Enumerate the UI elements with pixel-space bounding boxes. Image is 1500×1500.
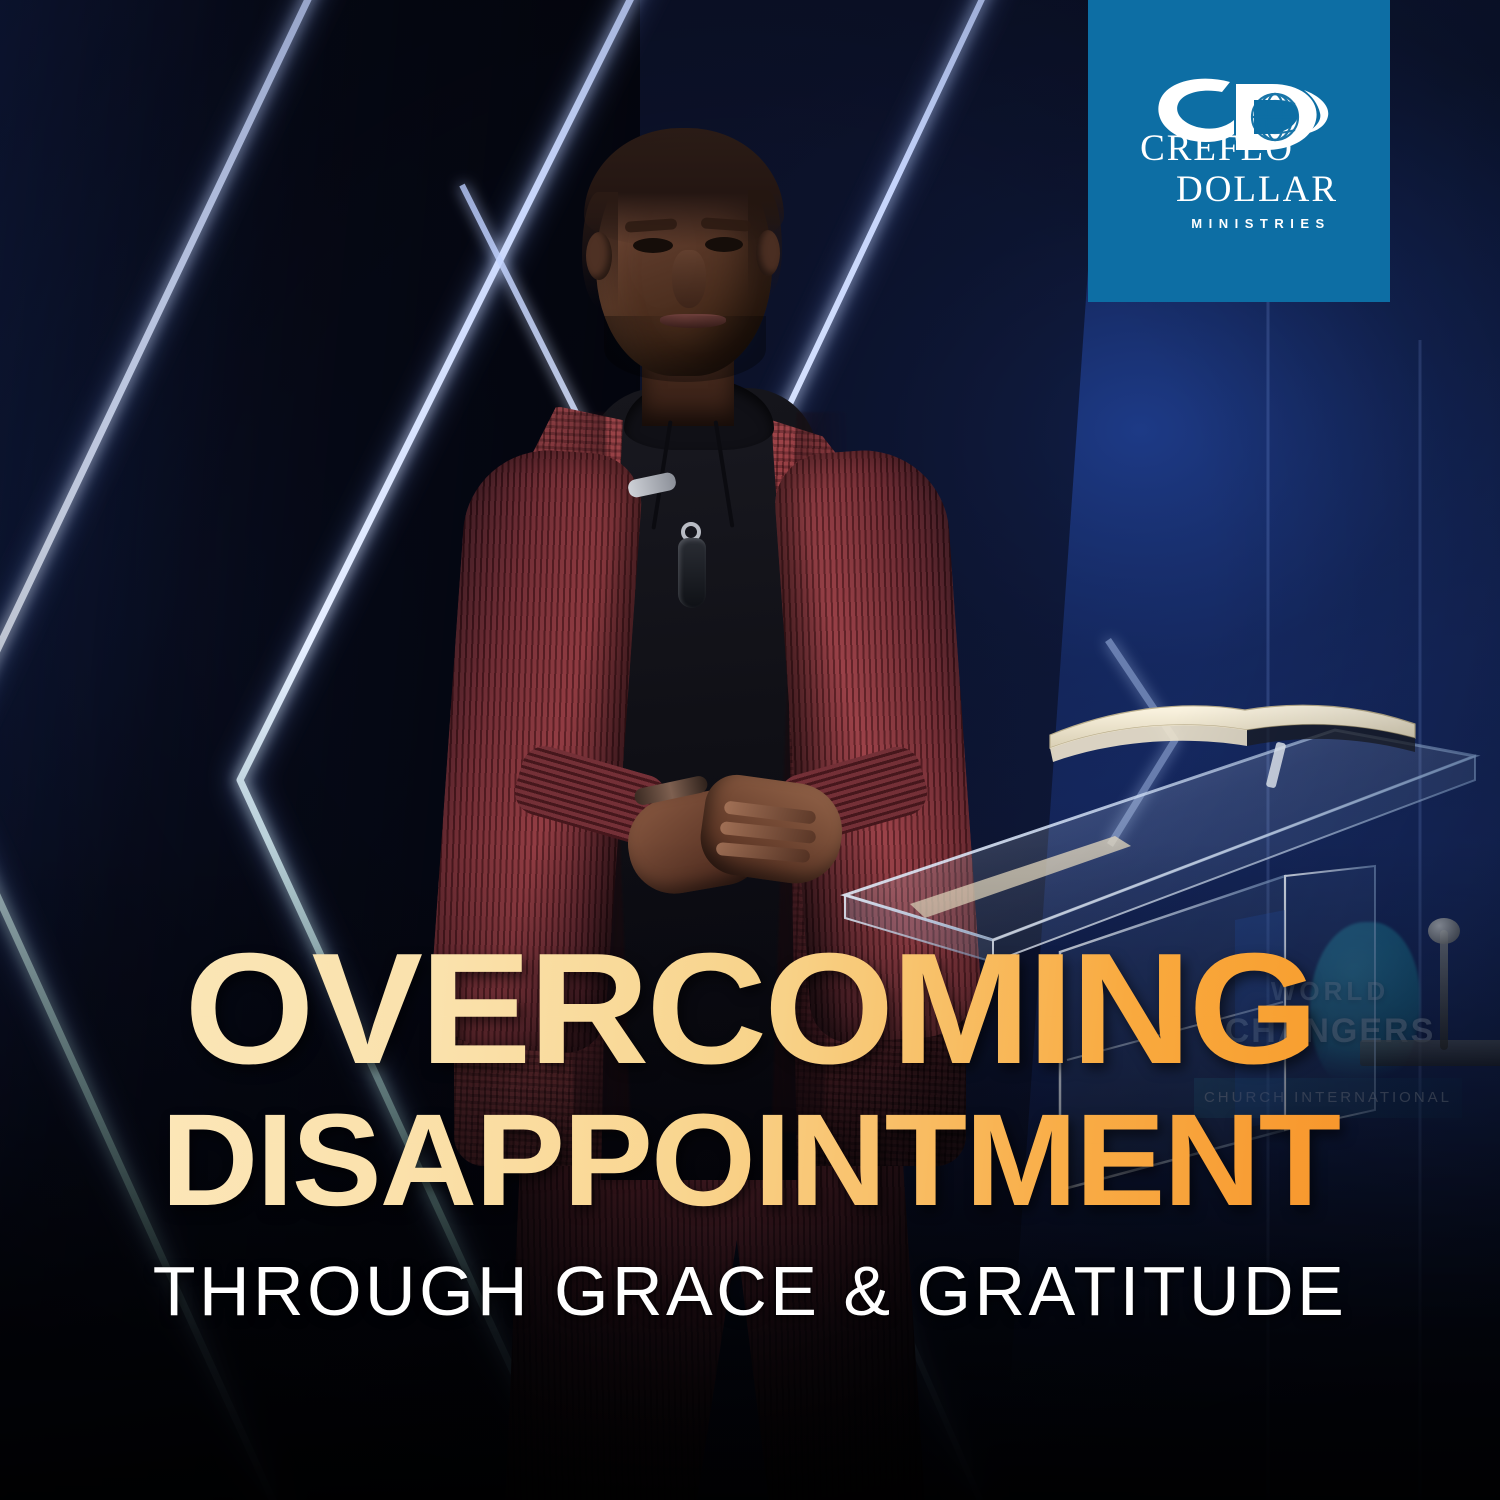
title-subtitle: THROUGH GRACE & GRATITUDE: [0, 1251, 1500, 1331]
sermon-title-block: OVERCOMING DISAPPOINTMENT THROUGH GRACE …: [0, 930, 1500, 1330]
logo-text-ministries: MINISTRIES: [1114, 216, 1364, 231]
title-line-disappointment: DISAPPOINTMENT: [0, 1094, 1500, 1225]
cd-globe-monogram-icon: [1144, 72, 1334, 164]
pendant-charm: [678, 538, 706, 608]
ear-right: [756, 230, 780, 276]
logo-text-dollar: DOLLAR: [1114, 171, 1364, 208]
sermon-title-card: WORLD CHANGERS CHURCH INTERNATIONAL: [0, 0, 1500, 1500]
title-line-overcoming: OVERCOMING: [0, 930, 1500, 1088]
eye-left: [633, 238, 673, 253]
eye-right: [705, 237, 743, 252]
creflo-dollar-ministries-logo[interactable]: CREFLO DOLLAR MINISTRIES: [1088, 0, 1390, 302]
jaw-shadow: [604, 316, 766, 382]
ear-left: [586, 232, 612, 280]
nose: [672, 250, 706, 308]
